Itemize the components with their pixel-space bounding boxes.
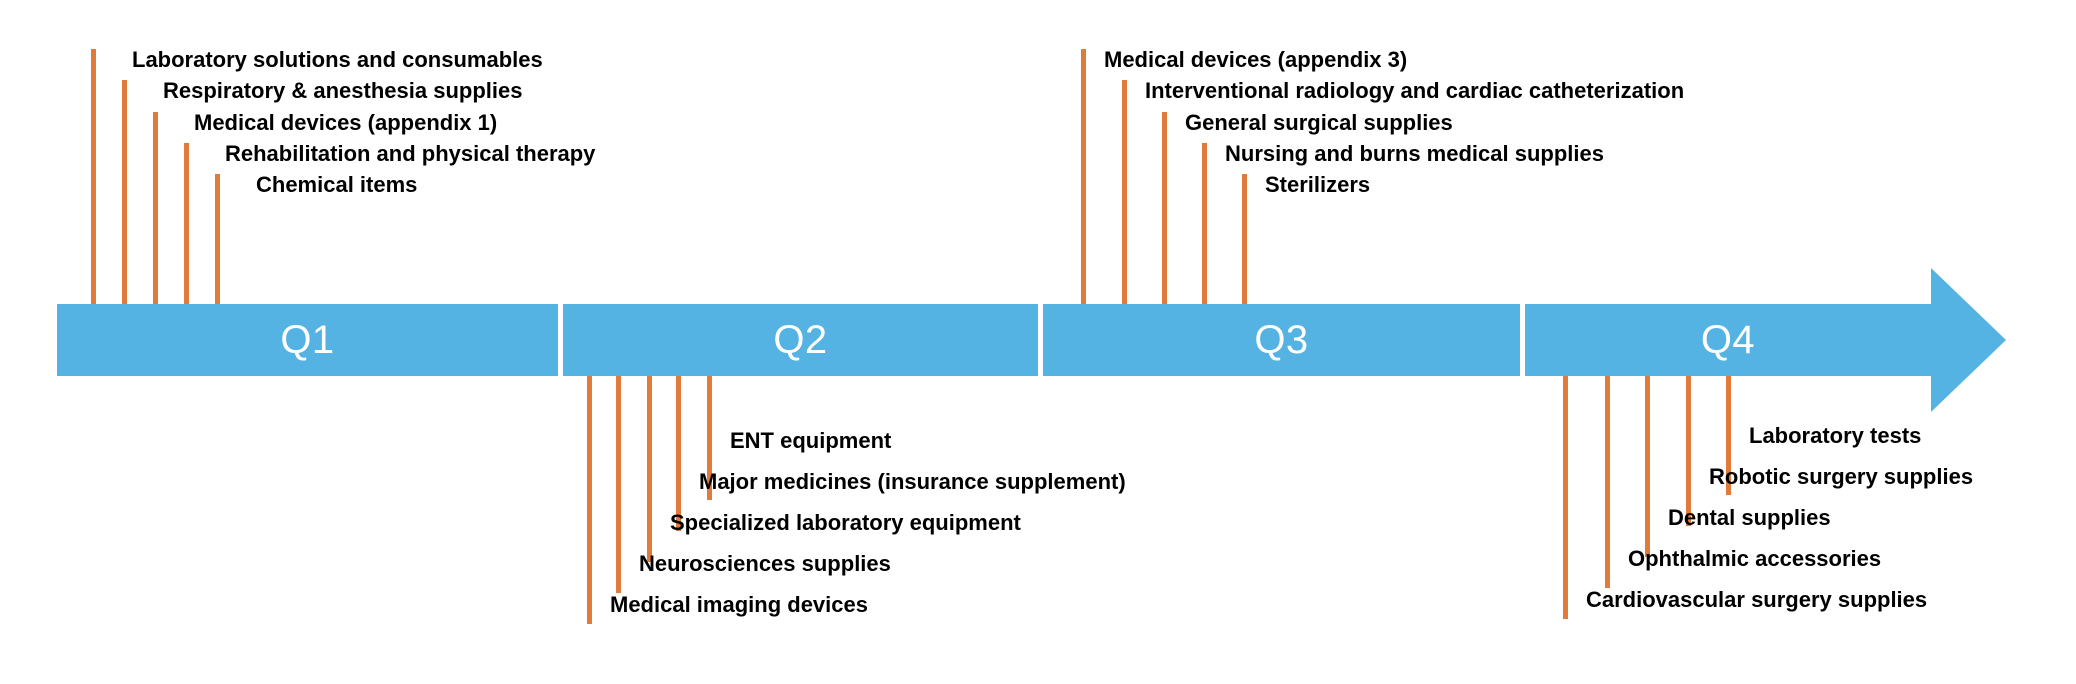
bar-segment-label-q3: Q3 [1254, 320, 1308, 360]
bar-segment-q2[interactable]: Q2 [563, 304, 1038, 376]
tick-major-medicines-insurance-supplement [676, 376, 681, 531]
label-laboratory-tests: Laboratory tests [1749, 423, 1921, 449]
label-major-medicines-insurance-supplement: Major medicines (insurance supplement) [699, 469, 1126, 495]
tick-interventional-radiology-and-cardiac-catheterization [1122, 80, 1127, 304]
bar-segment-q3[interactable]: Q3 [1043, 304, 1520, 376]
tick-laboratory-solutions-and-consumables [91, 49, 96, 304]
tick-ophthalmic-accessories [1605, 376, 1610, 588]
bar-divider-q1-q2 [558, 304, 563, 376]
label-ent-equipment: ENT equipment [730, 428, 891, 454]
tick-rehabilitation-and-physical-therapy [184, 143, 189, 304]
tick-medical-devices-appendix-3 [1081, 49, 1086, 304]
bar-segment-label-q2: Q2 [773, 320, 827, 360]
tick-robotic-surgery-supplies [1686, 376, 1691, 526]
label-specialized-laboratory-equipment: Specialized laboratory equipment [670, 510, 1021, 536]
bar-divider-q2-q3 [1038, 304, 1043, 376]
label-sterilizers: Sterilizers [1265, 172, 1370, 198]
label-rehabilitation-and-physical-therapy: Rehabilitation and physical therapy [225, 141, 595, 167]
label-medical-imaging-devices: Medical imaging devices [610, 592, 868, 618]
label-medical-devices-appendix-1: Medical devices (appendix 1) [194, 110, 497, 136]
tick-general-surgical-supplies [1162, 112, 1167, 304]
label-nursing-and-burns-medical-supplies: Nursing and burns medical supplies [1225, 141, 1604, 167]
bar-segment-label-q4: Q4 [1701, 320, 1755, 360]
tick-medical-devices-appendix-1 [153, 112, 158, 304]
tick-medical-imaging-devices [587, 376, 592, 624]
label-ophthalmic-accessories: Ophthalmic accessories [1628, 546, 1881, 572]
tick-sterilizers [1242, 174, 1247, 304]
label-respiratory-anesthesia-supplies: Respiratory & anesthesia supplies [163, 78, 522, 104]
tick-cardiovascular-surgery-supplies [1563, 376, 1568, 619]
label-dental-supplies: Dental supplies [1668, 505, 1831, 531]
bar-segment-label-q1: Q1 [280, 320, 334, 360]
tick-specialized-laboratory-equipment [647, 376, 652, 562]
tick-nursing-and-burns-medical-supplies [1202, 143, 1207, 304]
label-interventional-radiology-and-cardiac-catheterization: Interventional radiology and cardiac cat… [1145, 78, 1684, 104]
tick-respiratory-anesthesia-supplies [122, 80, 127, 304]
label-cardiovascular-surgery-supplies: Cardiovascular surgery supplies [1586, 587, 1927, 613]
bar-divider-q3-q4 [1520, 304, 1525, 376]
tick-neurosciences-supplies [616, 376, 621, 593]
label-neurosciences-supplies: Neurosciences supplies [639, 551, 891, 577]
tick-dental-supplies [1645, 376, 1650, 557]
bar-segment-q1[interactable]: Q1 [57, 304, 558, 376]
tick-chemical-items [215, 174, 220, 304]
label-medical-devices-appendix-3: Medical devices (appendix 3) [1104, 47, 1407, 73]
label-general-surgical-supplies: General surgical supplies [1185, 110, 1453, 136]
label-robotic-surgery-supplies: Robotic surgery supplies [1709, 464, 1973, 490]
label-chemical-items: Chemical items [256, 172, 417, 198]
label-laboratory-solutions-and-consumables: Laboratory solutions and consumables [132, 47, 543, 73]
timeline-diagram: Q1 Q2 Q3 Q4 Laboratory solutions and con… [0, 0, 2076, 684]
bar-segment-q4[interactable]: Q4 [1525, 304, 1931, 376]
timeline-arrowhead-icon [1931, 268, 2006, 412]
